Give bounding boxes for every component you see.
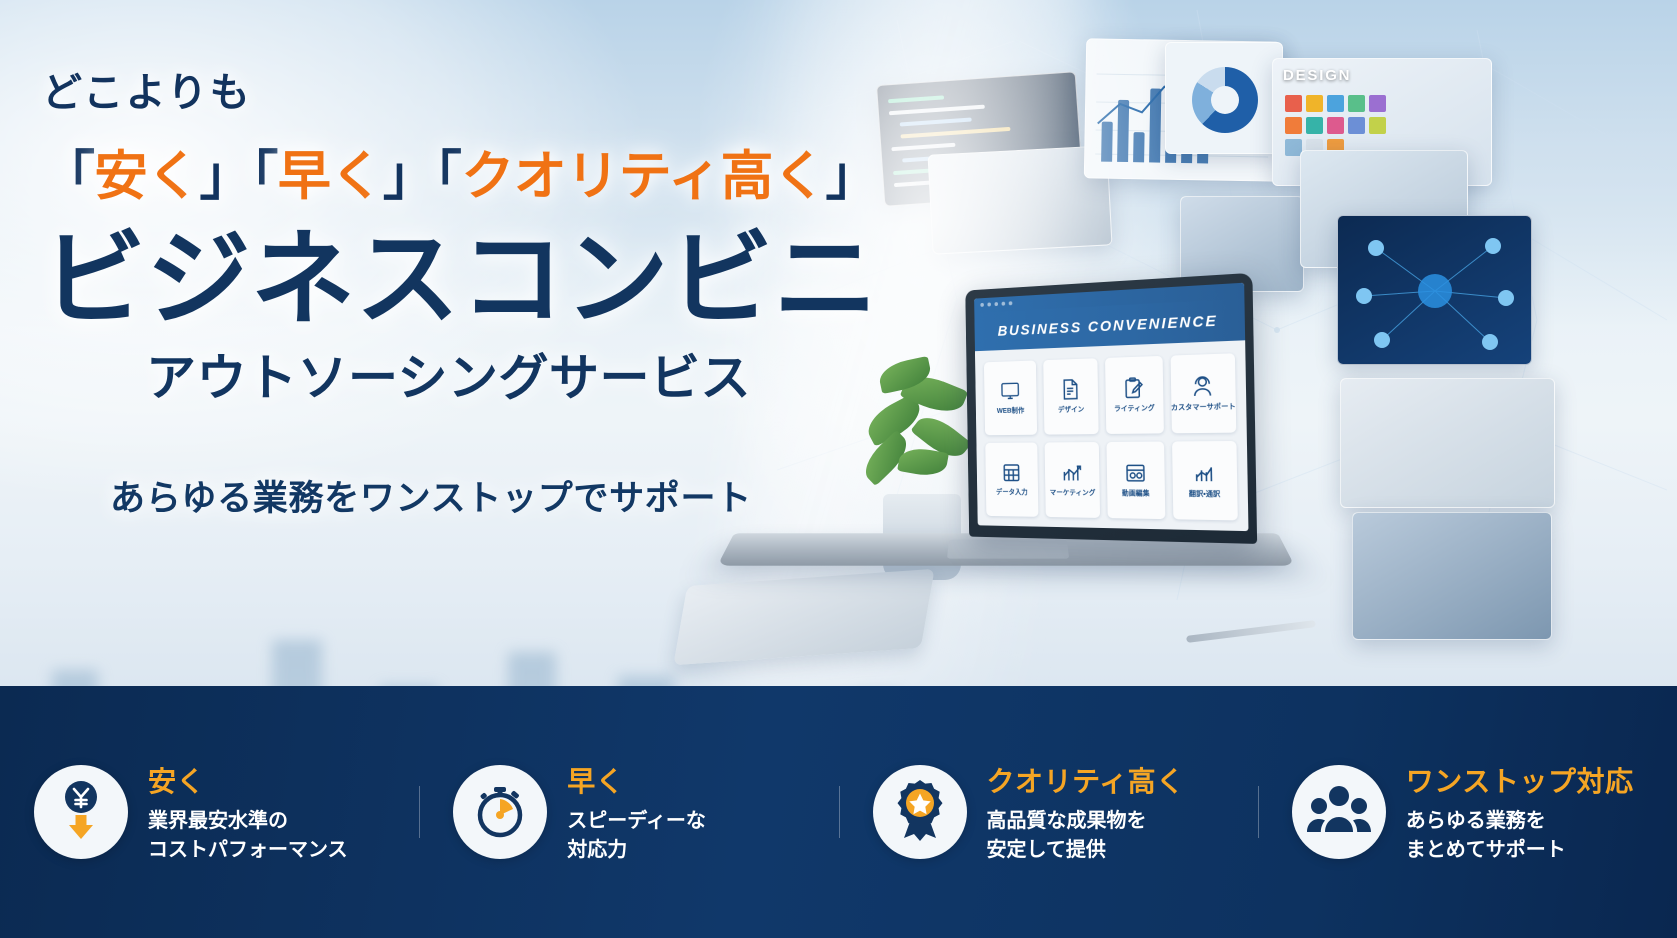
bracket-open-3: 「 bbox=[435, 147, 461, 206]
spreadsheet-icon bbox=[1002, 463, 1020, 482]
feature-icon-circle bbox=[453, 765, 547, 859]
tile-label: データ入力 bbox=[996, 487, 1028, 497]
panel-support-agent bbox=[1352, 512, 1552, 640]
feature-item-quality: クオリティ高く 高品質な成果物を 安定して提供 bbox=[839, 760, 1258, 864]
service-tile-support[interactable]: カスタマーサポート bbox=[1170, 353, 1236, 433]
bracket-open-1: 「 bbox=[42, 147, 94, 206]
feature-desc-line1: スピーディーな bbox=[567, 807, 706, 835]
tile-label: ライティング bbox=[1114, 403, 1155, 414]
feature-text: クオリティ高く 高品質な成果物を 安定して提供 bbox=[987, 760, 1185, 864]
headset-person-icon bbox=[1192, 375, 1213, 397]
panel-network-people bbox=[1337, 215, 1532, 365]
service-tile-data-entry[interactable]: データ入力 bbox=[985, 443, 1038, 517]
laptop-trackpad bbox=[947, 540, 1069, 559]
feature-desc-line1: 業界最安水準の bbox=[148, 807, 348, 835]
laptop-screen: BUSINESS CONVENIENCE WEB制作 bbox=[974, 283, 1248, 531]
hero-kicker: どこよりも bbox=[42, 60, 882, 118]
service-tile-writing[interactable]: ライティング bbox=[1105, 356, 1163, 434]
catch-highlight-2: 早く bbox=[278, 147, 383, 206]
stopwatch-icon bbox=[469, 779, 531, 846]
feature-icon-circle bbox=[1292, 765, 1386, 859]
tile-label: デザイン bbox=[1058, 404, 1085, 414]
tile-label: 翻訳・通訳 bbox=[1189, 488, 1221, 499]
bracket-close-1: 」 bbox=[199, 147, 251, 206]
tile-label: マーケティング bbox=[1050, 487, 1096, 497]
award-ribbon-icon bbox=[890, 778, 950, 847]
hero-text-block: どこよりも 「安く」「早く」「クオリティ高く」 ビジネスコンビニ アウトソーシン… bbox=[42, 60, 882, 521]
feature-title: クオリティ高く bbox=[987, 760, 1185, 800]
tile-label: カスタマーサポート bbox=[1171, 401, 1236, 413]
feature-title: 早く bbox=[567, 760, 706, 800]
bracket-open-2: 「 bbox=[252, 147, 278, 206]
bar-chart-icon bbox=[1193, 462, 1215, 483]
yen-down-arrow-icon bbox=[52, 779, 110, 846]
design-panel-label: DESIGN bbox=[1283, 67, 1351, 84]
service-tile-web[interactable]: WEB制作 bbox=[984, 360, 1037, 435]
feature-desc-line1: あらゆる業務を bbox=[1406, 807, 1634, 835]
feature-icon-circle bbox=[34, 765, 128, 859]
hero-tagline: あらゆる業務をワンストップでサポート bbox=[110, 470, 882, 521]
people-group-icon bbox=[1307, 784, 1371, 841]
feature-icon-circle bbox=[873, 765, 967, 859]
service-tile-video[interactable]: 動画編集 bbox=[1107, 442, 1165, 520]
monitor-icon bbox=[1000, 381, 1020, 401]
feature-bar: 安く 業界最安水準の コストパフォーマンス bbox=[0, 686, 1677, 938]
feature-text: 安く 業界最安水準の コストパフォーマンス bbox=[148, 760, 348, 864]
tile-label: 動画編集 bbox=[1122, 488, 1150, 498]
hero-main-title: ビジネスコンビニ bbox=[42, 224, 882, 336]
tile-label: WEB制作 bbox=[997, 405, 1025, 415]
feature-item-fast: 早く スピーディーな 対応力 bbox=[419, 760, 838, 864]
hero-subtitle: アウトソーシングサービス bbox=[146, 338, 882, 410]
feature-item-cheap: 安く 業界最安水準の コストパフォーマンス bbox=[0, 760, 419, 864]
panel-donut-chart bbox=[1165, 42, 1283, 154]
feature-desc-line1: 高品質な成果物を bbox=[987, 807, 1185, 835]
panel-handwriting bbox=[1340, 378, 1555, 508]
feature-desc-line2: 安定して提供 bbox=[987, 836, 1185, 864]
feature-text: 早く スピーディーな 対応力 bbox=[567, 760, 706, 864]
feature-text: ワンストップ対応 あらゆる業務を まとめてサポート bbox=[1406, 760, 1634, 864]
service-tile-design[interactable]: デザイン bbox=[1043, 358, 1099, 434]
video-window-icon bbox=[1125, 462, 1146, 482]
catch-highlight-3: クオリティ高く bbox=[461, 147, 825, 206]
hero-catchphrase: 「安く」「早く」「クオリティ高く」 bbox=[42, 134, 882, 210]
bracket-close-3: 」 bbox=[825, 147, 877, 206]
service-tile-grid: WEB制作 デザイン bbox=[975, 340, 1249, 531]
document-pen-icon bbox=[1061, 379, 1080, 400]
feature-title: 安く bbox=[148, 760, 348, 800]
catch-highlight-1: 安く bbox=[94, 147, 199, 206]
laptop-lid: BUSINESS CONVENIENCE WEB制作 bbox=[965, 273, 1257, 544]
bracket-close-2: 」 bbox=[383, 147, 435, 206]
service-tile-marketing[interactable]: マーケティング bbox=[1045, 442, 1101, 518]
feature-item-onestop: ワンストップ対応 あらゆる業務を まとめてサポート bbox=[1258, 760, 1677, 864]
feature-desc-line2: まとめてサポート bbox=[1406, 836, 1634, 864]
growth-chart-icon bbox=[1062, 463, 1082, 483]
feature-desc-line2: 対応力 bbox=[567, 836, 706, 864]
clipboard-pen-icon bbox=[1124, 377, 1144, 399]
service-tile-translation[interactable]: 翻訳・通訳 bbox=[1172, 441, 1238, 520]
feature-desc-line2: コストパフォーマンス bbox=[148, 836, 348, 864]
feature-title: ワンストップ対応 bbox=[1406, 760, 1634, 800]
hero-banner: DESIGN bbox=[0, 0, 1677, 938]
